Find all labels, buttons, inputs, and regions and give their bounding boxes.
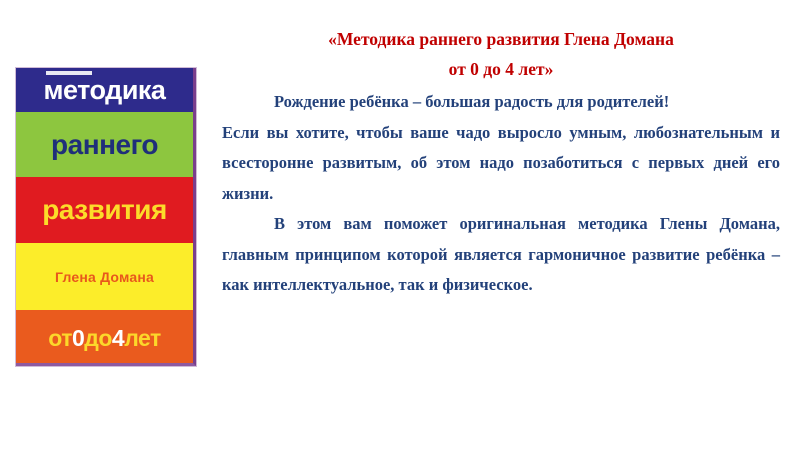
age-number-from: 0 [72,327,84,350]
paragraph-birth-joy: Рождение ребёнка – большая радость для р… [222,87,780,118]
book-band-razvitiya-label: развития [42,196,167,224]
age-number-to: 4 [112,327,124,350]
book-band-author: Глена Домана [16,243,193,310]
age-suffix: лет [124,327,161,350]
book-band-metodika: методика [16,68,193,112]
book-band-rannego-label: раннего [51,131,158,159]
slide-root: { "book_cover": { "alt": "book-cover-met… [0,0,800,462]
page-title-line-1: «Методика раннего развития Глена Домана [222,24,780,54]
paragraph-doman-method: В этом вам поможет оригинальная методика… [222,209,780,301]
book-band-metodika-label: методика [44,77,166,104]
book-band-age: от 0 до 4 лет [16,310,193,366]
page-title-line-2: от 0 до 4 лет» [222,54,780,84]
page-title: «Методика раннего развития Глена Домана … [222,24,780,84]
decorative-dash [46,71,92,75]
age-prefix: от [48,327,72,350]
book-band-razvitiya: развития [16,177,193,243]
book-band-rannego: раннего [16,112,193,177]
book-band-author-label: Глена Домана [55,270,154,284]
paragraph-if-you-want: Если вы хотите, чтобы ваше чадо выросло … [222,118,780,210]
text-column: «Методика раннего развития Глена Домана … [222,24,780,301]
age-middle: до [84,327,112,350]
book-cover-image: методика раннего развития Глена Домана о… [16,68,196,366]
